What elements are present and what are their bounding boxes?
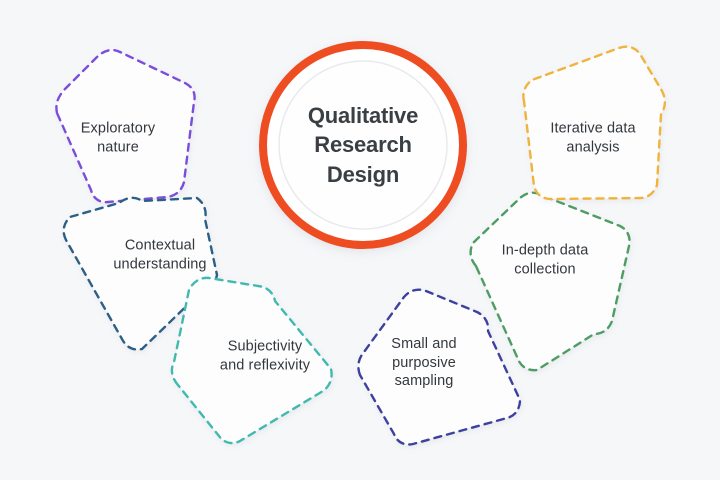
hub-inner-disc bbox=[279, 61, 447, 229]
petal-small-and-purposive-sampling[interactable] bbox=[358, 290, 520, 445]
petal-exploratory-nature[interactable] bbox=[56, 50, 194, 202]
diagram-canvas: Qualitative Research Design Exploratory … bbox=[0, 0, 720, 480]
radial-petal-diagram bbox=[0, 0, 720, 480]
hub-circle[interactable] bbox=[263, 45, 463, 245]
petal-subjectivity-and-reflexivity[interactable] bbox=[172, 278, 332, 443]
petal-iterative-data-analysis[interactable] bbox=[523, 47, 664, 199]
